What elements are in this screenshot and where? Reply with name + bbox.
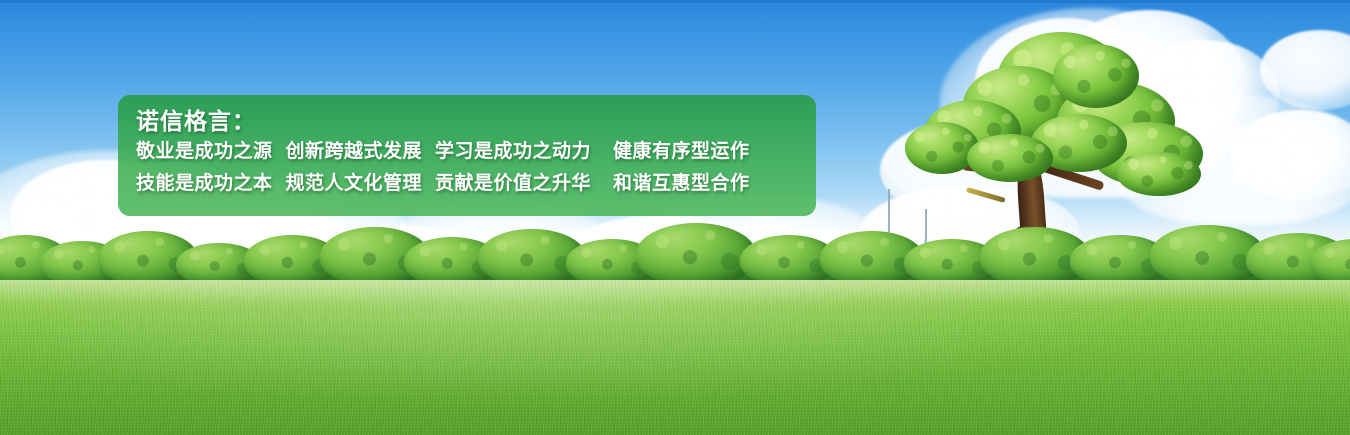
eco-banner: 诺信格言： 敬业是成功之源创新跨越式发展学习是成功之动力健康有序型运作 技能是成… (0, 0, 1350, 435)
tree-canopy (967, 134, 1053, 182)
motto-panel: 诺信格言： 敬业是成功之源创新跨越式发展学习是成功之动力健康有序型运作 技能是成… (118, 95, 816, 216)
tree-canopy (1117, 152, 1201, 196)
sky-top-edge (0, 0, 1350, 3)
motto-phrase: 创新跨越式发展 (286, 136, 423, 168)
tree-canopy (905, 122, 979, 174)
motto-phrase: 规范人文化管理 (286, 168, 423, 200)
tree-canopy (1053, 44, 1139, 108)
panel-title: 诺信格言： (136, 106, 816, 136)
motto-phrase: 贡献是价值之升华 (435, 168, 591, 200)
grass-highlight (0, 280, 1350, 435)
motto-phrase: 敬业是成功之源 (136, 136, 273, 168)
motto-phrase: 和谐互惠型合作 (613, 168, 750, 200)
tree-branch (966, 187, 1006, 203)
motto-phrase: 学习是成功之动力 (435, 136, 591, 168)
motto-line-2: 技能是成功之本规范人文化管理贡献是价值之升华和谐互惠型合作 (136, 168, 816, 200)
motto-phrase: 技能是成功之本 (136, 168, 273, 200)
motto-phrase: 健康有序型运作 (613, 136, 750, 168)
bush (636, 223, 756, 285)
motto-line-1: 敬业是成功之源创新跨越式发展学习是成功之动力健康有序型运作 (136, 136, 816, 168)
